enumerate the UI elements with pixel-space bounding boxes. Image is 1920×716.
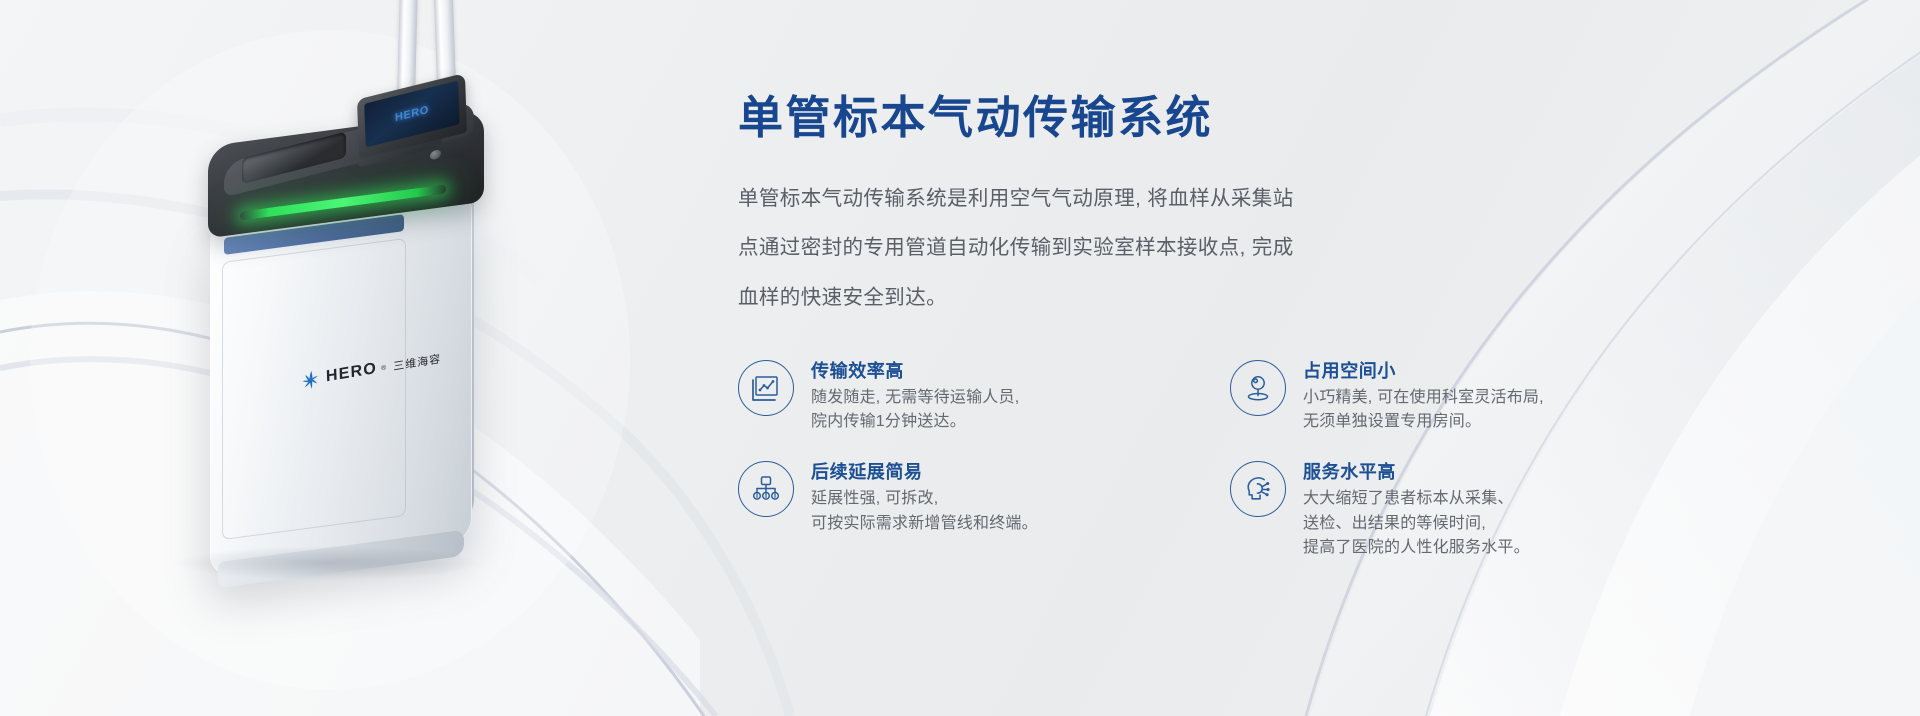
feature-title: 占用空间小 xyxy=(1303,358,1544,384)
feature-text: 占用空间小 小巧精美, 可在使用科室灵活布局, 无须单独设置专用房间。 xyxy=(1303,357,1544,435)
feature-text: 后续延展简易 延展性强, 可拆改, 可按实际需求新增管线和终端。 xyxy=(811,458,1038,536)
product-shadow xyxy=(178,546,478,580)
transport-station-unit: HERO HERO ® 三维海容 xyxy=(200,128,530,558)
brand-registered-mark: ® xyxy=(381,364,386,372)
feature-description-line: 小巧精美, 可在使用科室灵活布局, xyxy=(1303,386,1544,410)
feature-item-easy-extension: 后续延展简易 延展性强, 可拆改, 可按实际需求新增管线和终端。 xyxy=(738,458,1230,560)
feature-description-line: 大大缩短了患者标本从采集、 xyxy=(1303,487,1530,511)
hero-leaf-icon xyxy=(300,368,323,392)
feature-description: 大大缩短了患者标本从采集、 送检、出结果的等候时间, 提高了医院的人性化服务水平… xyxy=(1303,487,1530,560)
intro-paragraph: 单管标本气动传输系统是利用空气气动原理, 将血样从采集站 点通过密封的专用管道自… xyxy=(738,174,1538,323)
intro-line: 点通过密封的专用管道自动化传输到实验室样本接收点, 完成 xyxy=(738,223,1538,273)
power-button-icon[interactable] xyxy=(430,149,441,161)
feature-description: 延展性强, 可拆改, 可按实际需求新增管线和终端。 xyxy=(811,487,1038,536)
network-tree-icon xyxy=(738,461,794,517)
intro-line: 血样的快速安全到达。 xyxy=(738,273,1538,323)
space-pin-icon xyxy=(1230,360,1286,416)
feature-text: 传输效率高 随发随走, 无需等待运输人员, 院内传输1分钟送达。 xyxy=(811,357,1019,435)
feature-title: 传输效率高 xyxy=(811,358,1019,384)
feature-title: 后续延展简易 xyxy=(811,459,1038,485)
banner-content: 单管标本气动传输系统 单管标本气动传输系统是利用空气气动原理, 将血样从采集站 … xyxy=(738,92,1738,560)
screen-brand-logo: HERO xyxy=(395,104,429,124)
feature-description-line: 院内传输1分钟送达。 xyxy=(811,410,1019,434)
smart-head-icon xyxy=(1230,461,1286,517)
feature-item-transfer-efficiency: 传输效率高 随发随走, 无需等待运输人员, 院内传输1分钟送达。 xyxy=(738,357,1230,435)
feature-description-line: 随发随走, 无需等待运输人员, xyxy=(811,386,1019,410)
feature-description-line: 无须单独设置专用房间。 xyxy=(1303,410,1544,434)
feature-text: 服务水平高 大大缩短了患者标本从采集、 送检、出结果的等候时间, 提高了医院的人… xyxy=(1303,458,1530,560)
feature-description-line: 延展性强, 可拆改, xyxy=(811,487,1038,511)
feature-description: 小巧精美, 可在使用科室灵活布局, 无须单独设置专用房间。 xyxy=(1303,386,1544,435)
page-title: 单管标本气动传输系统 xyxy=(738,92,1738,144)
product-image: HERO HERO ® 三维海容 xyxy=(150,0,620,716)
feature-list: 传输效率高 随发随走, 无需等待运输人员, 院内传输1分钟送达。 xyxy=(738,357,1738,561)
feature-description-line: 送检、出结果的等候时间, xyxy=(1303,512,1530,536)
feature-item-service-level: 服务水平高 大大缩短了患者标本从采集、 送检、出结果的等候时间, 提高了医院的人… xyxy=(1230,458,1738,560)
feature-description: 随发随走, 无需等待运输人员, 院内传输1分钟送达。 xyxy=(811,386,1019,435)
feature-description-line: 可按实际需求新增管线和终端。 xyxy=(811,512,1038,536)
feature-item-small-footprint: 占用空间小 小巧精美, 可在使用科室灵活布局, 无须单独设置专用房间。 xyxy=(1230,357,1738,435)
product-hero-banner: HERO HERO ® 三维海容 单管标本气动传输系统 单管标本气动传输系统是利… xyxy=(0,0,1920,716)
intro-line: 单管标本气动传输系统是利用空气气动原理, 将血样从采集站 xyxy=(738,174,1538,224)
unit-display-screen[interactable]: HERO xyxy=(364,81,459,148)
feature-title: 服务水平高 xyxy=(1303,459,1530,485)
line-chart-icon xyxy=(738,360,794,416)
feature-description-line: 提高了医院的人性化服务水平。 xyxy=(1303,536,1530,560)
